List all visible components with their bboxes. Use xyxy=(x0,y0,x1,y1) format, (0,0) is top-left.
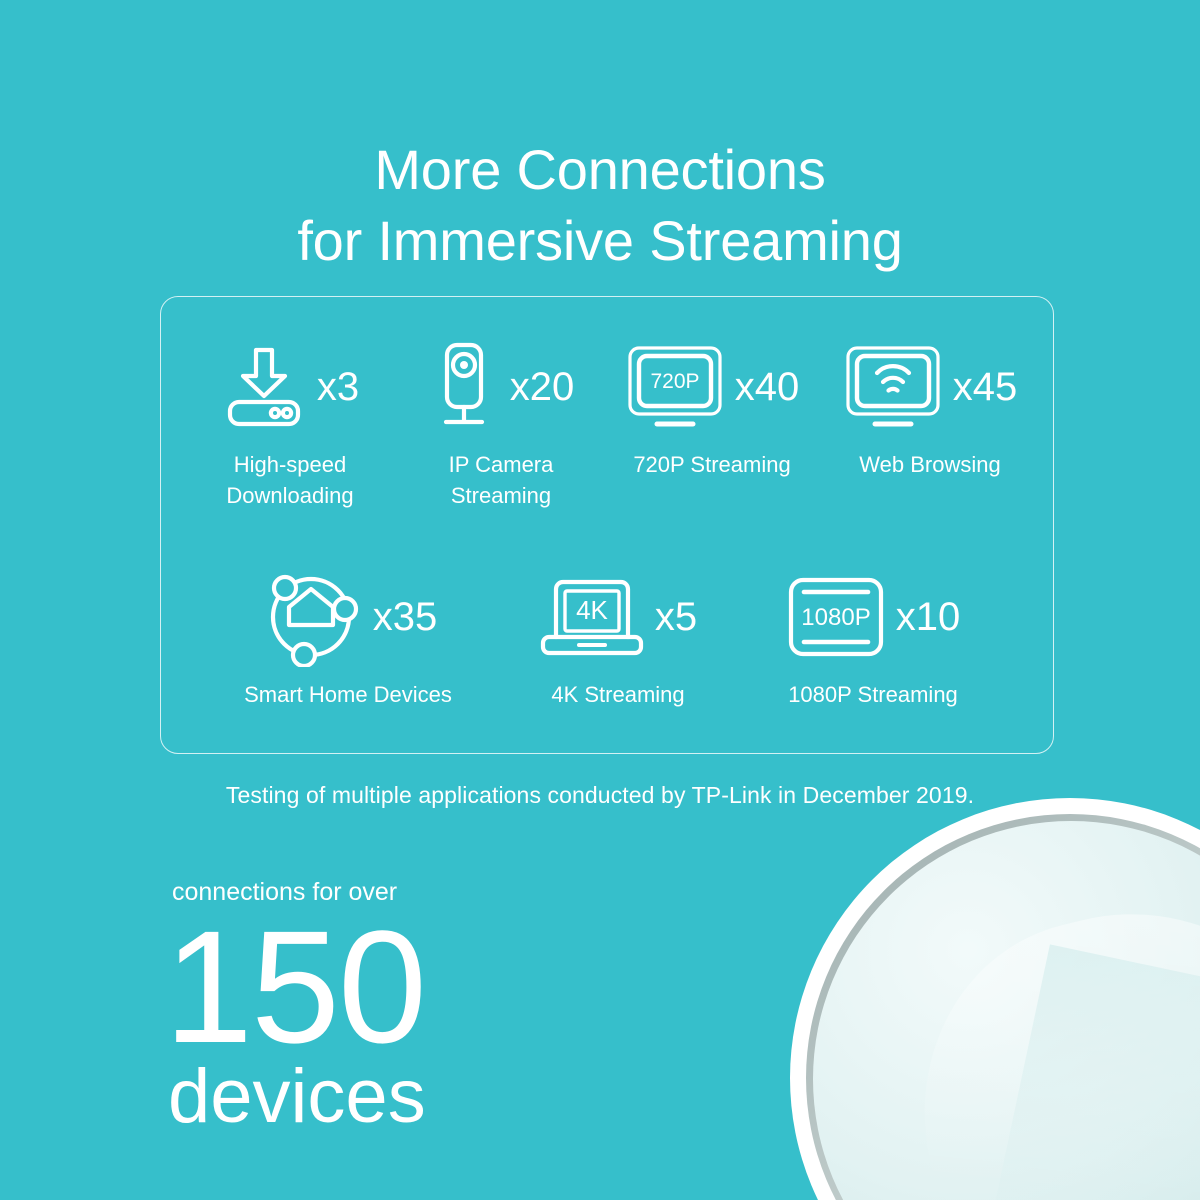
feature-item-label: Web Browsing xyxy=(859,449,1000,480)
feature-item-icon-row: 720P x40 xyxy=(625,339,800,435)
product-highlight-secondary xyxy=(963,944,1200,1200)
monitor-wifi-icon xyxy=(843,343,943,431)
product-face xyxy=(813,821,1200,1200)
download-to-device-icon xyxy=(221,344,307,430)
feature-item-icon-row: x45 xyxy=(843,339,1018,435)
feature-item-ip-camera-streaming: x20 IP Camera Streaming xyxy=(401,339,601,511)
feature-item-web-browsing: x45 Web Browsing xyxy=(823,339,1037,480)
feature-item-label: 4K Streaming xyxy=(551,679,684,710)
laptop-resolution-text: 4K xyxy=(576,595,608,625)
feature-item-smart-home-devices: x35 Smart Home Devices xyxy=(203,569,493,710)
feature-item-4k-streaming: 4K x5 4K Streaming xyxy=(493,569,743,710)
screen-resolution-text: 1080P xyxy=(801,604,870,631)
feature-item-icon-row: x35 xyxy=(259,569,438,665)
feature-item-high-speed-downloading: x3 High-speed Downloading xyxy=(179,339,401,511)
ip-camera-icon xyxy=(428,341,500,433)
product-photo xyxy=(780,780,1200,1200)
feature-row-1: x3 High-speed Downloading x20 IP Camera … xyxy=(179,339,1037,511)
page-title: More Connections for Immersive Streaming xyxy=(0,134,1200,277)
feature-multiplier: x3 xyxy=(317,367,359,407)
wifi-icon xyxy=(877,366,909,390)
feature-item-720p-streaming: 720P x40 720P Streaming xyxy=(601,339,823,480)
product-highlight-primary xyxy=(883,866,1200,1200)
feature-item-label: 720P Streaming xyxy=(633,449,790,480)
feature-item-1080p-streaming: 1080P x10 1080P Streaming xyxy=(743,569,1003,710)
feature-item-icon-row: x20 xyxy=(428,339,575,435)
page-title-line-1: More Connections xyxy=(0,134,1200,206)
feature-item-label: High-speed Downloading xyxy=(226,449,353,511)
feature-card: x3 High-speed Downloading x20 IP Camera … xyxy=(160,296,1054,754)
feature-item-icon-row: 4K x5 xyxy=(539,569,697,665)
feature-multiplier: x45 xyxy=(953,367,1018,407)
feature-row-2: x35 Smart Home Devices 4K x5 4K Streamin… xyxy=(203,569,1003,710)
feature-item-icon-row: 1080P x10 xyxy=(786,569,961,665)
footnote-text: Testing of multiple applications conduct… xyxy=(0,782,1200,809)
laptop-4k-icon: 4K xyxy=(539,575,645,659)
feature-multiplier: x10 xyxy=(896,597,961,637)
feature-item-icon-row: x3 xyxy=(221,339,359,435)
feature-multiplier: x40 xyxy=(735,367,800,407)
monitor-720p-icon: 720P xyxy=(625,343,725,431)
feature-item-label: IP Camera Streaming xyxy=(449,449,554,511)
product-outer-shell xyxy=(790,798,1200,1200)
smart-home-network-icon xyxy=(259,567,363,667)
screen-1080p-icon: 1080P xyxy=(786,575,886,659)
monitor-resolution-text: 720P xyxy=(650,370,699,393)
stat-unit: devices xyxy=(168,1059,426,1135)
feature-item-label: 1080P Streaming xyxy=(788,679,958,710)
page-title-line-2: for Immersive Streaming xyxy=(0,205,1200,277)
feature-item-label: Smart Home Devices xyxy=(244,679,452,710)
feature-multiplier: x20 xyxy=(510,367,575,407)
product-rim xyxy=(806,814,1200,1200)
feature-multiplier: x35 xyxy=(373,597,438,637)
stat-block: connections for over 150 devices xyxy=(170,880,426,1135)
stat-number: 150 xyxy=(164,911,426,1063)
feature-multiplier: x5 xyxy=(655,597,697,637)
